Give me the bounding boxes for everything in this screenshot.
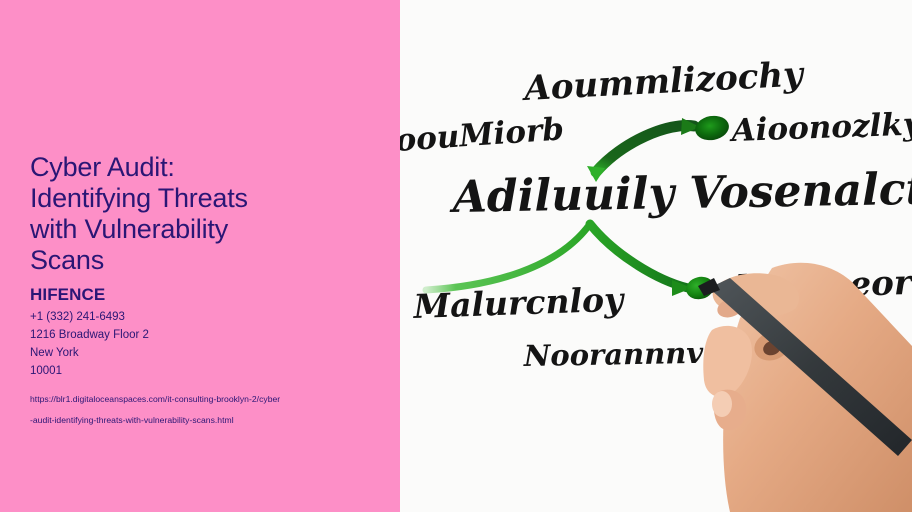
contact-block: +1 (332) 241-6493 1216 Broadway Floor 2 … — [30, 308, 375, 380]
article-url[interactable]: https://blr1.digitaloceanspaces.com/it-c… — [30, 389, 375, 431]
brand-name: HIFENCE — [30, 285, 375, 305]
fingernail-lower — [712, 391, 732, 417]
scribble-center-main-text: Adiluuily Vosenalcty — [448, 163, 912, 223]
whiteboard-svg: Aoummlizochy toouMiorb Aioonozlky Adiluu… — [400, 0, 912, 512]
promo-card: Cyber Audit: Identifying Threats with Vu… — [0, 0, 912, 512]
whiteboard-illustration-panel: Aoummlizochy toouMiorb Aioonozlky Adiluu… — [400, 0, 912, 512]
contact-city: New York — [30, 344, 375, 362]
article-url-line-1[interactable]: https://blr1.digitaloceanspaces.com/it-c… — [30, 389, 375, 410]
contact-street: 1216 Broadway Floor 2 — [30, 326, 375, 344]
contact-phone: +1 (332) 241-6493 — [30, 308, 375, 326]
left-info-panel: Cyber Audit: Identifying Threats with Vu… — [0, 0, 400, 512]
article-url-line-2[interactable]: -audit-identifying-threats-with-vulnerab… — [30, 410, 375, 431]
contact-zip: 10001 — [30, 362, 375, 380]
scribble-lower-left-text: Malurcnloy — [412, 280, 627, 326]
page-title: Cyber Audit: Identifying Threats with Vu… — [30, 152, 375, 276]
scribble-node-upper-text: Aioonozlky — [728, 106, 912, 149]
left-content-stack: Cyber Audit: Identifying Threats with Vu… — [30, 152, 375, 431]
